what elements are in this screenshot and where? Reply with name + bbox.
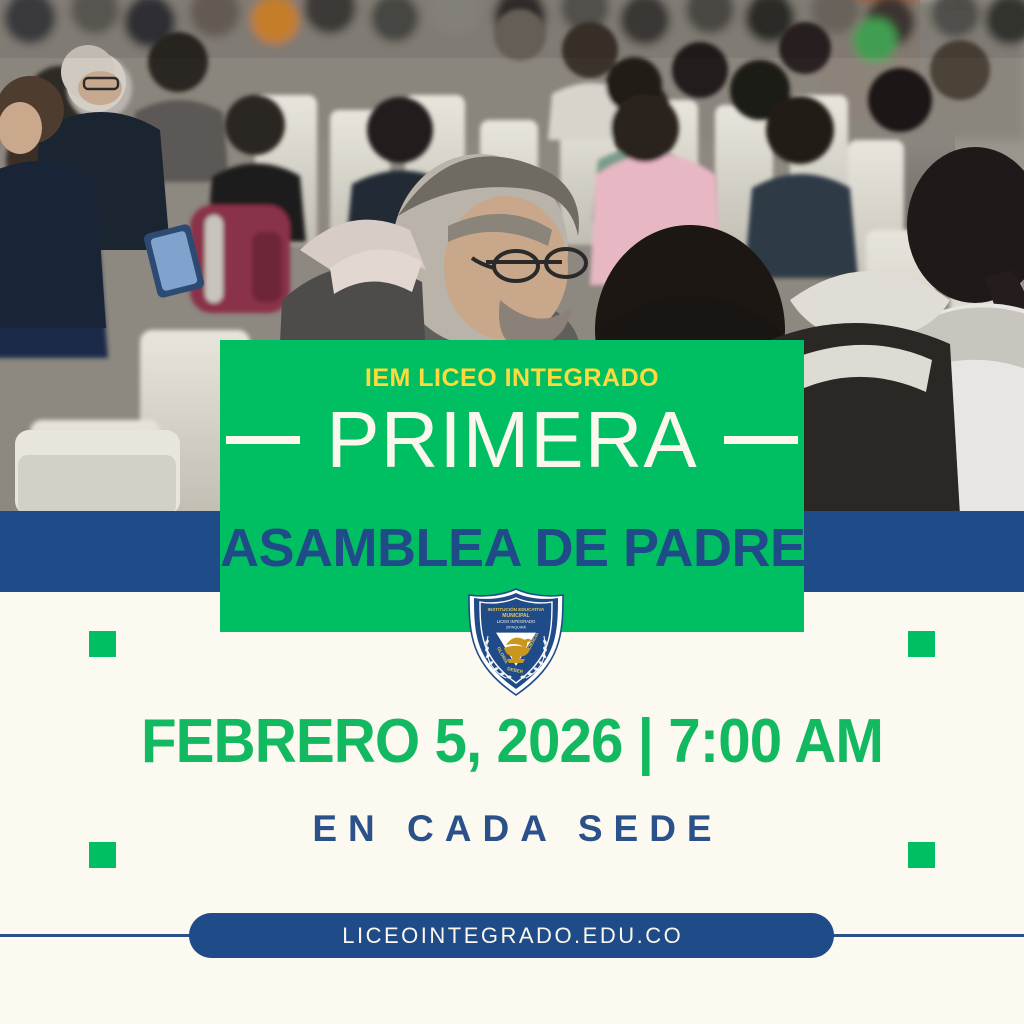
dash-left-icon: [226, 436, 300, 444]
dash-right-icon: [724, 436, 798, 444]
website-button[interactable]: LICEOINTEGRADO.EDU.CO: [189, 913, 834, 958]
crest-line-1: INSTITUCIÓN EDUCATIVA: [488, 605, 545, 612]
headline-row: PRIMERA: [220, 400, 804, 480]
event-location: EN CADA SEDE: [0, 808, 1024, 850]
accent-square-top-left: [89, 631, 116, 657]
poster-canvas: IEM LICEO INTEGRADO PRIMERA ASAMBLEA DE …: [0, 0, 1024, 1024]
subheadline-asamblea: ASAMBLEA DE PADRES: [220, 517, 804, 579]
accent-square-top-right: [908, 631, 935, 657]
liceo-integrado-crest-icon: INSTITUCIÓN EDUCATIVA MUNICIPAL LICEO IN…: [462, 588, 570, 698]
organization-kicker: IEM LICEO INTEGRADO: [220, 364, 804, 393]
crest-line-4: ZIPAQUIRÁ: [506, 626, 527, 630]
headline-primera: PRIMERA: [326, 400, 698, 480]
crest-line-3: LICEO INTEGRADO: [497, 619, 536, 624]
website-label: LICEOINTEGRADO.EDU.CO: [340, 923, 683, 949]
event-date-time: FEBRERO 5, 2026 | 7:00 AM: [31, 706, 994, 777]
